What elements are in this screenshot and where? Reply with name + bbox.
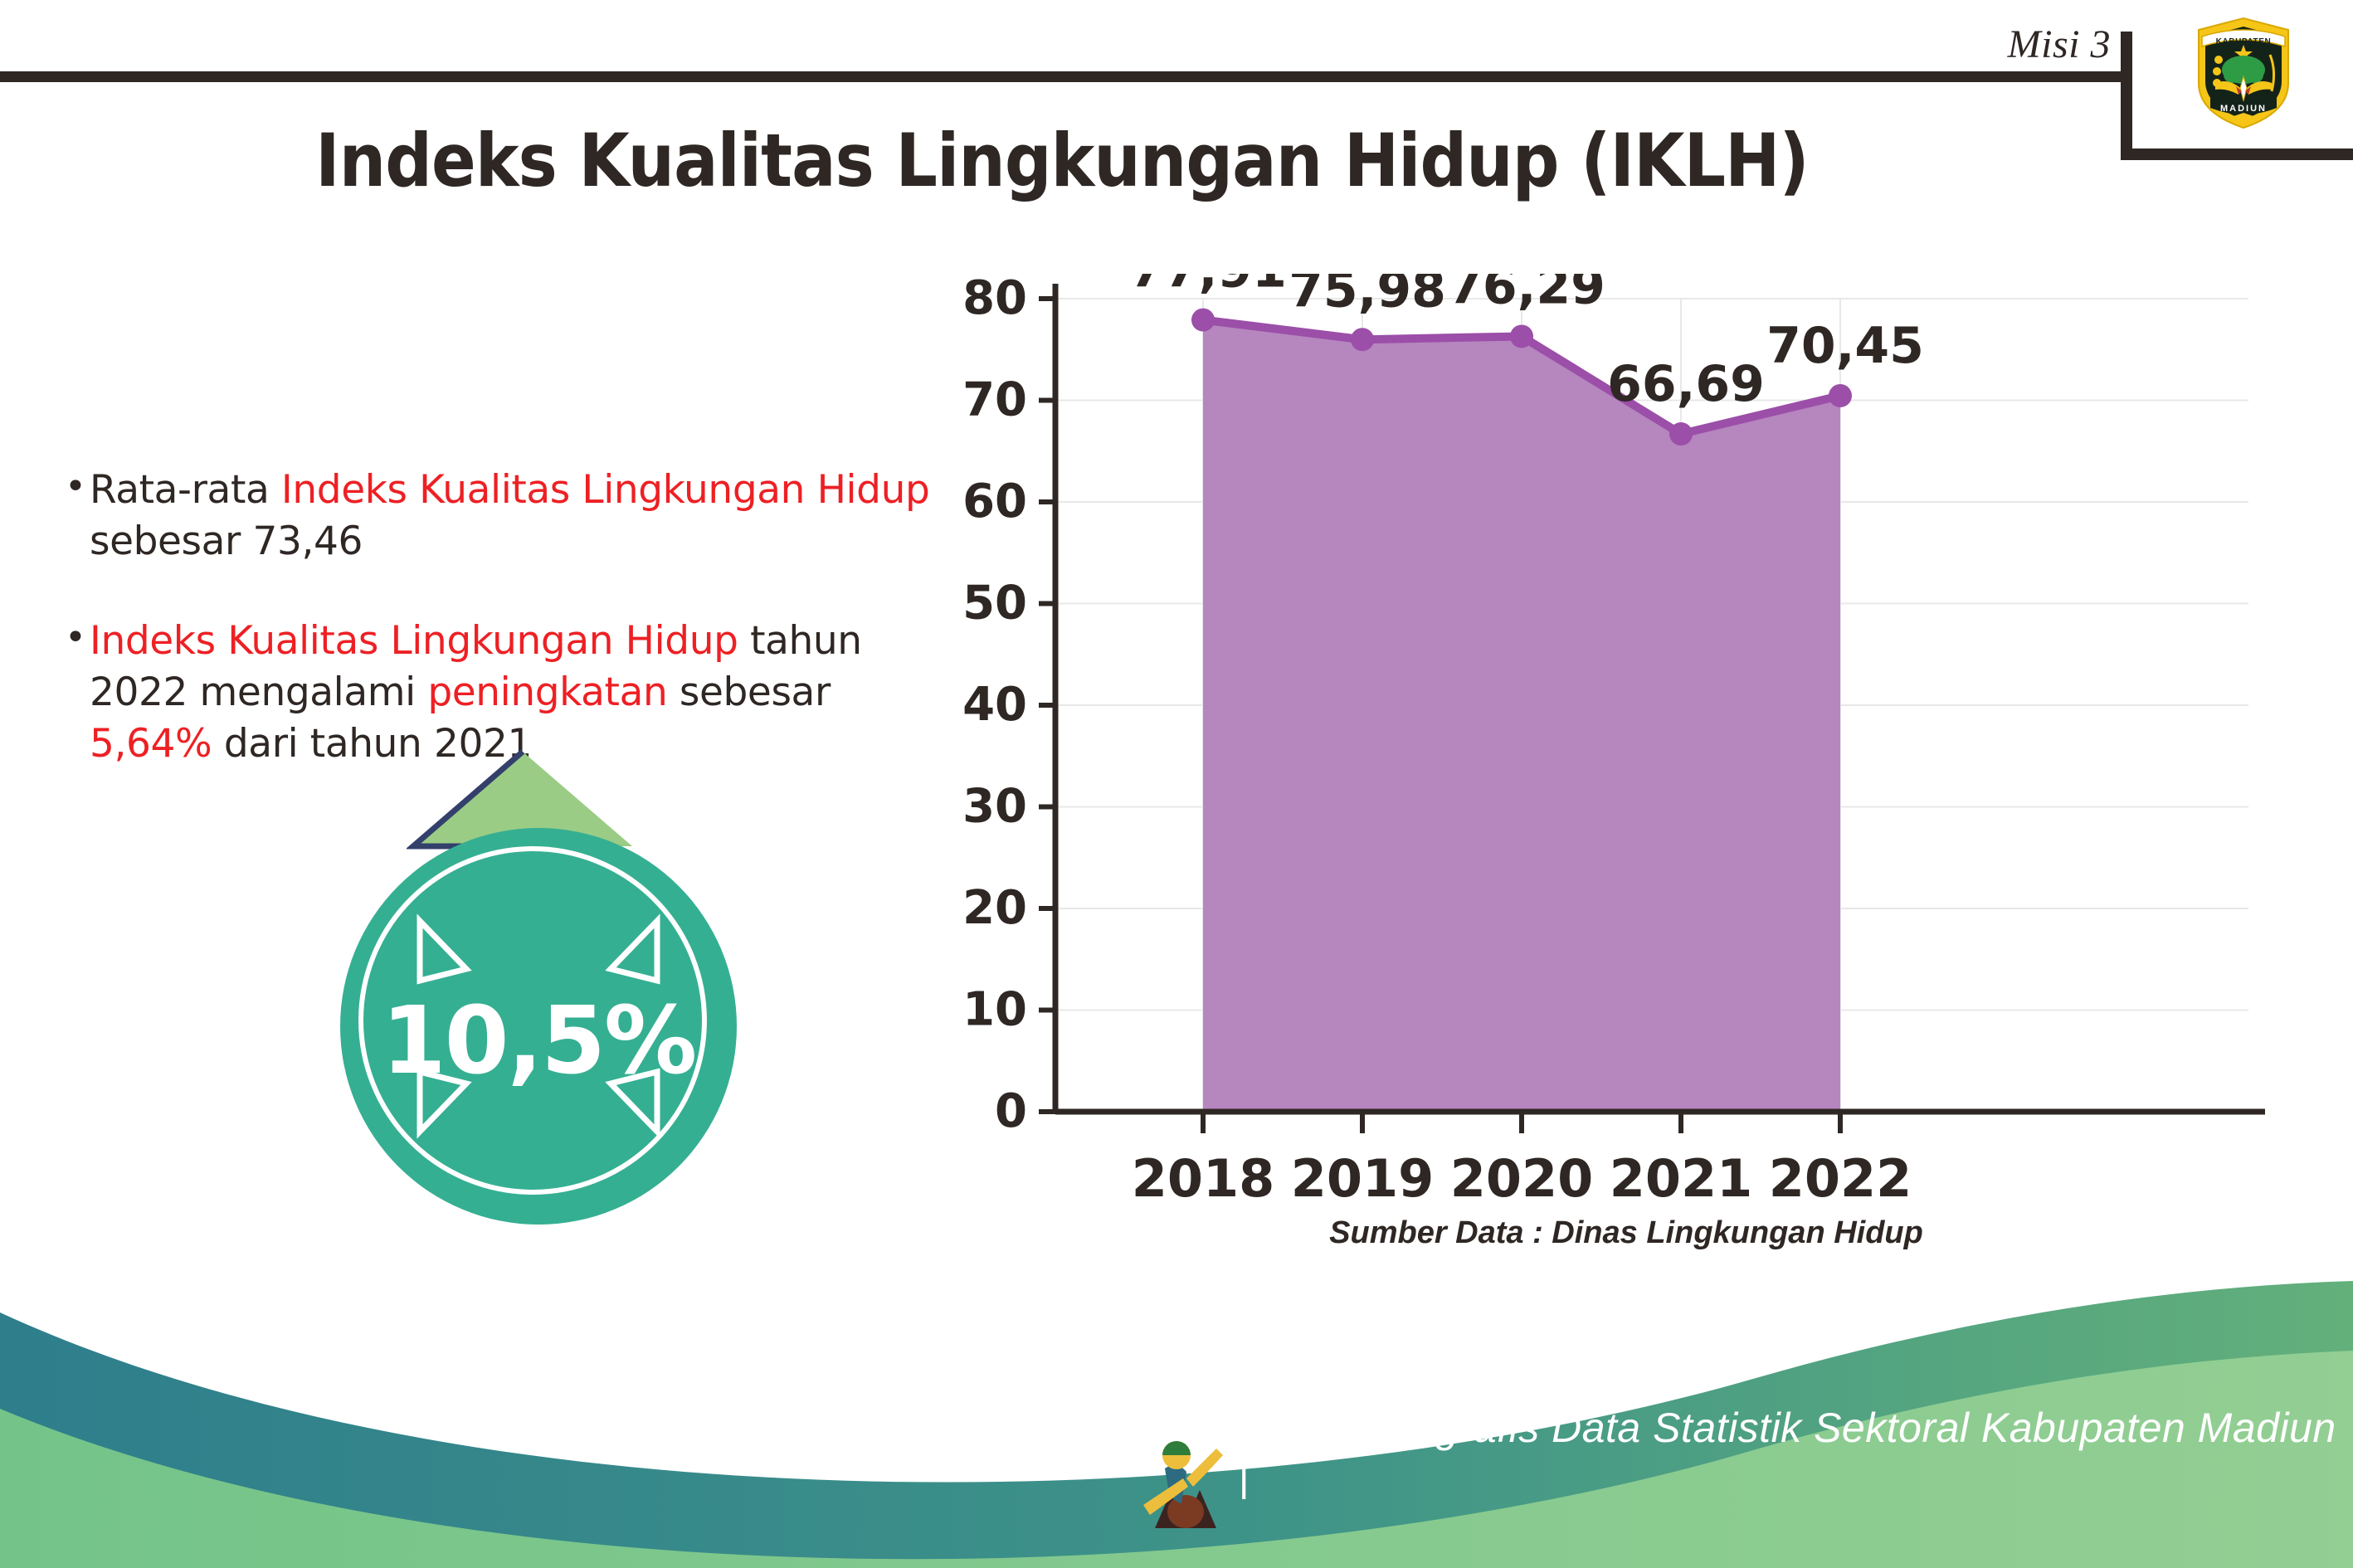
x-tick-label-2019: 2019 [1291,1148,1435,1209]
y-tick-label-10: 10 [962,983,1027,1037]
y-tick-label-40: 40 [962,678,1027,732]
kabupaten-madiun-emblem-icon: KABUPATEN MADIUN [2190,12,2297,131]
data-label-2021: 66,69 [1607,355,1765,413]
y-tick-label-20: 20 [962,881,1027,935]
x-tick-label-2022: 2022 [1769,1148,1912,1209]
svg-text:MADIUN: MADIUN [2220,104,2267,114]
bullet-0-run-2: sebesar 73,46 [90,519,363,564]
data-label-2022: 70,45 [1766,317,1924,375]
bracket-vertical-bar [2121,32,2132,160]
x-tick-label-2018: 2018 [1132,1148,1275,1209]
iklh-area-chart: 010203040506070802018201920202021202277,… [954,274,2298,1294]
footer-caption: Media Infografis Data Statistik Sektoral… [1238,1404,2353,1500]
media-infografis-logo-icon [1140,1435,1231,1551]
chart-canvas: 010203040506070802018201920202021202277,… [954,274,2298,1294]
data-label-2018: 77,91 [1129,274,1287,299]
y-tick-label-50: 50 [962,577,1027,631]
header-rule [0,71,2126,82]
area-fill [1203,320,1840,1112]
data-label-2019: 75,98 [1289,274,1446,319]
chart-source-label: Sumber Data : Dinas Lingkungan Hidup [1054,1215,2199,1251]
infographic-slide: Misi 3 KABUPATEN MADIUN [0,0,2353,1568]
bracket-horizontal-bar [2121,149,2353,160]
misi-label: Misi 3 [2008,22,2111,67]
data-point-2022 [1829,384,1852,407]
bullet-1-run-3: sebesar [667,670,831,715]
badge-value-label: 10,5% [340,987,737,1095]
y-tick-label-80: 80 [962,274,1027,325]
bullet-1-run-2: peningkatan [427,670,667,715]
page-title: Indeks Kualitas Lingkungan Hidup (IKLH) [106,118,2018,203]
bullet-0-run-1: Indeks Kualitas Lingkungan Hidup [281,467,930,513]
bullet-1-run-0: Indeks Kualitas Lingkungan Hidup [90,618,738,664]
data-point-2020 [1510,324,1533,348]
x-tick-label-2021: 2021 [1610,1148,1753,1209]
y-tick-label-70: 70 [962,373,1027,427]
bullet-point-average: Rata-rata Indeks Kualitas Lingkungan Hid… [65,465,944,567]
data-point-2019 [1351,328,1374,351]
data-point-2018 [1191,309,1215,332]
bullet-0-run-0: Rata-rata [90,467,281,513]
y-tick-label-0: 0 [995,1084,1027,1138]
data-label-2020: 76,29 [1448,274,1605,315]
data-point-2021 [1669,422,1693,446]
x-tick-label-2020: 2020 [1450,1148,1594,1209]
y-tick-label-60: 60 [962,475,1027,528]
growth-badge: 10,5% [325,747,757,1195]
bullet-1-run-4: 5,64% [90,721,212,767]
y-tick-label-30: 30 [962,780,1027,834]
